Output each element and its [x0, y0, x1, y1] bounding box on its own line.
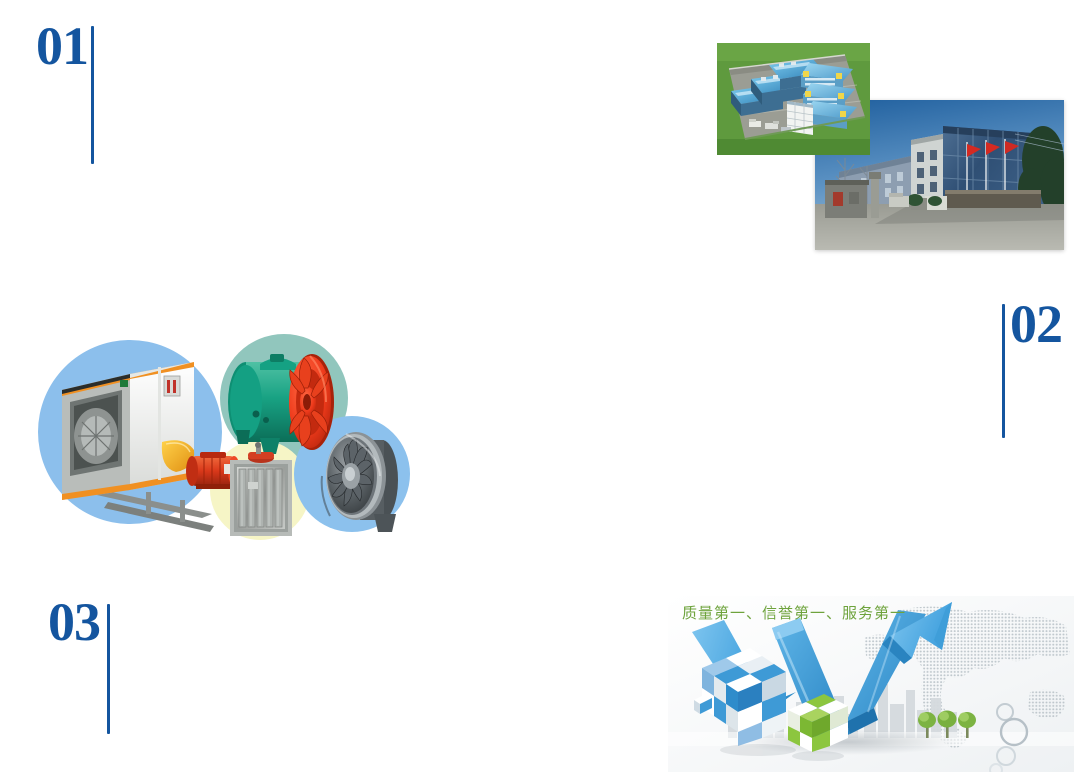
- section-marker-02: 02: [1002, 302, 1062, 438]
- growth-graphic-slogan: 质量第一、信誉第一、服务第一: [682, 602, 906, 623]
- section-rule-01: [91, 26, 94, 164]
- green-trees: [918, 711, 976, 739]
- section-number-02: 02: [1010, 302, 1062, 347]
- product-axial-fan-green-red: [228, 354, 334, 454]
- product-circle-cluster: [34, 318, 426, 558]
- growth-concept-graphic: 质量第一、信誉第一、服务第一: [668, 596, 1074, 772]
- product-cluster-illustration: [34, 318, 426, 558]
- section-rule-02: [1002, 304, 1005, 438]
- slide-canvas: 01 02 03: [0, 0, 1074, 772]
- factory-render-image: [717, 43, 870, 155]
- section-rule-03: [107, 604, 110, 734]
- section-number-01: 01: [36, 24, 88, 69]
- factory-render-illustration: [717, 43, 870, 155]
- section-marker-03: 03: [48, 600, 110, 734]
- section-number-03: 03: [48, 600, 100, 645]
- section-marker-01: 01: [36, 24, 94, 164]
